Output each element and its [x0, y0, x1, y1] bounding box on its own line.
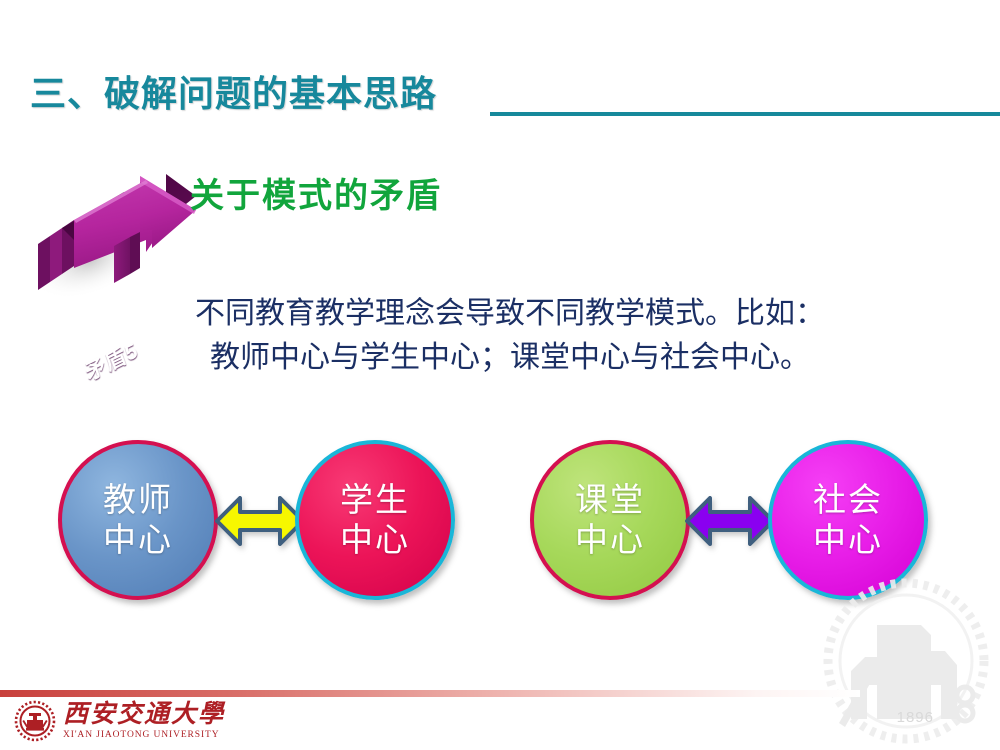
logo-name-en: XI'AN JIAOTONG UNIVERSITY [63, 731, 225, 741]
double-arrow-icon [214, 492, 306, 550]
slide-canvas: 三、破解问题的基本思路 [0, 0, 1000, 750]
university-emblem-icon [14, 700, 56, 742]
connector-double-arrow-purple [684, 492, 776, 550]
node-label-line2: 中心 [103, 520, 173, 560]
node-label-line1: 教师 [103, 480, 173, 520]
diagram-node-classroom-center: 课堂 中心 [530, 440, 690, 600]
watermark-year: 1896 [897, 709, 934, 726]
title-underline-rule [490, 112, 1000, 116]
node-label-line1: 学生 [340, 480, 410, 520]
node-label-line2: 中心 [340, 520, 410, 560]
university-logo-text: 西安交通大學 XI'AN JIAOTONG UNIVERSITY [63, 701, 225, 741]
node-label-line1: 社会 [813, 480, 883, 520]
title-row: 三、破解问题的基本思路 [0, 72, 1000, 120]
node-label-line2: 中心 [813, 520, 883, 560]
connector-double-arrow-yellow [214, 492, 306, 550]
university-logo: 西安交通大學 XI'AN JIAOTONG UNIVERSITY [14, 700, 225, 742]
concept-diagram: 教师 中心 学生 中心 课堂 中心 社会 中心 [0, 440, 1000, 620]
diagram-node-student-center: 学生 中心 [295, 440, 455, 600]
badge-arrow-icon [28, 152, 203, 302]
section-subhead: 关于模式的矛盾 [190, 168, 442, 217]
body-paragraph: 不同教育教学理念会导致不同教学模式。比如： 教师中心与学生中心；课堂中心与社会中… [120, 292, 900, 380]
logo-name-cn: 西安交通大學 [63, 701, 225, 726]
body-line-2: 教师中心与学生中心；课堂中心与社会中心。 [120, 336, 900, 380]
double-arrow-icon [684, 492, 776, 550]
badge-arrow-3d: 矛盾5 [28, 152, 203, 302]
diagram-node-teacher-center: 教师 中心 [58, 440, 218, 600]
node-label-line1: 课堂 [575, 480, 645, 520]
diagram-node-society-center: 社会 中心 [768, 440, 928, 600]
body-line-1: 不同教育教学理念会导致不同教学模式。比如： [120, 292, 900, 336]
page-title: 三、破解问题的基本思路 [30, 72, 437, 116]
node-label-line2: 中心 [575, 520, 645, 560]
footer-divider [0, 690, 860, 697]
